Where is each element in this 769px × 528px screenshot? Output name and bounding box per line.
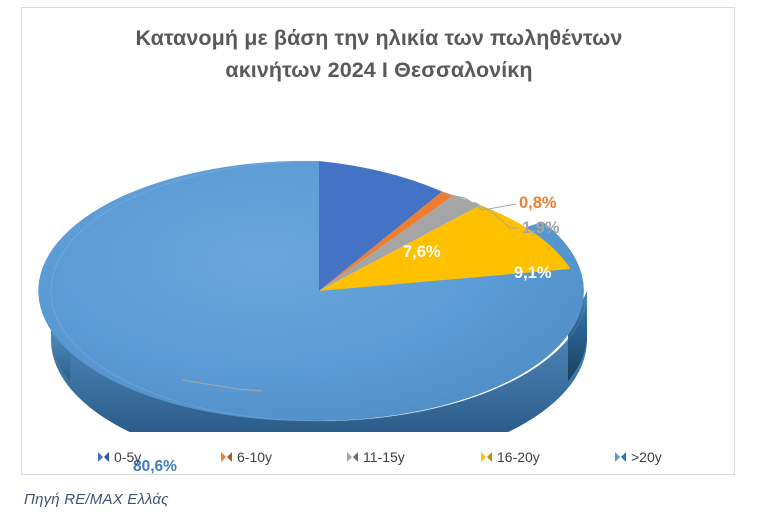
chart-title-line-1: Κατανομή με βάση την ηλικία των πωληθέντ…	[22, 22, 736, 54]
pie-chart-graphic	[22, 92, 736, 432]
legend-item-0-5y[interactable]: 0-5y	[98, 446, 141, 468]
legend-item-gt20y[interactable]: >20y	[615, 446, 662, 468]
pie-chart-plot-area: 7,6% 0,8% 1,9% 9,1% 80,6%	[22, 92, 736, 432]
chart-frame: Κατανομή με βάση την ηλικία των πωληθέντ…	[21, 7, 735, 475]
legend-swatch-icon-16-20y	[481, 452, 492, 463]
source-note: Πηγή RE/MAX Ελλάς	[24, 491, 169, 508]
page-title: Κατανομή με βάση την ηλικία των πωληθέντ…	[22, 22, 736, 86]
chart-title-line-2: ακινήτων 2024 Ι Θεσσαλονίκη	[22, 54, 736, 86]
legend-label-6-10y: 6-10y	[237, 449, 272, 465]
legend-swatch-icon-11-15y	[347, 452, 358, 463]
legend-swatch-icon-0-5y	[98, 452, 109, 463]
legend-item-6-10y[interactable]: 6-10y	[221, 446, 272, 468]
data-label-11-15y: 1,9%	[522, 220, 560, 237]
legend-swatch-icon-6-10y	[221, 452, 232, 463]
legend-label-11-15y: 11-15y	[363, 449, 405, 465]
legend-item-11-15y[interactable]: 11-15y	[347, 446, 405, 468]
pie-slice-gt20y-body[interactable]	[38, 161, 574, 421]
data-label-16-20y: 9,1%	[514, 265, 552, 282]
legend-item-16-20y[interactable]: 16-20y	[481, 446, 540, 468]
legend-label-0-5y: 0-5y	[114, 449, 141, 465]
data-label-6-10y: 0,8%	[519, 195, 557, 212]
legend-label-16-20y: 16-20y	[497, 449, 540, 465]
legend-label-gt20y: >20y	[631, 449, 662, 465]
chart-legend: 0-5y 6-10y 11-15y 16-20y >20y	[22, 446, 736, 470]
legend-swatch-icon-gt20y	[615, 452, 626, 463]
data-label-0-5y: 7,6%	[403, 244, 441, 261]
